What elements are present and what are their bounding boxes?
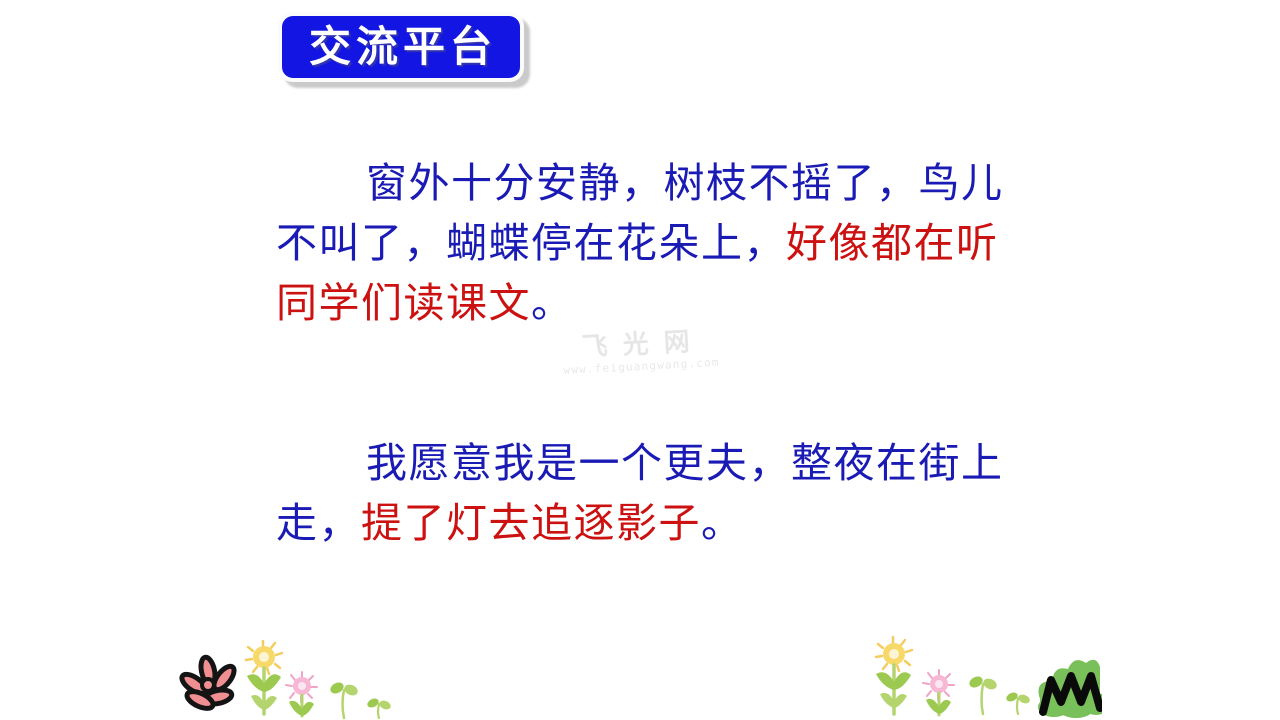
pink-small-flower-icon bbox=[286, 672, 317, 716]
slide-canvas: 交流平台 窗外十分安静，树枝不摇了，鸟儿不叫了，蝴蝶停在花朵上，好像都在听同学们… bbox=[0, 0, 1280, 720]
pink-outlined-flower-icon bbox=[179, 656, 238, 712]
grass-blob-icon bbox=[1038, 660, 1102, 718]
title-banner-label: 交流平台 bbox=[305, 26, 497, 68]
passage-one: 窗外十分安静，树枝不摇了，鸟儿不叫了，蝴蝶停在花朵上，好像都在听同学们读课文。 bbox=[276, 153, 1016, 333]
title-banner-fill: 交流平台 bbox=[282, 16, 520, 78]
passage-two-segment-emphasis: 提了灯去追逐影子 bbox=[361, 499, 701, 547]
watermark-url: www.feiguangwang.com bbox=[563, 356, 714, 378]
small-sprout-icon bbox=[366, 697, 392, 718]
pink-small-flower-icon bbox=[923, 670, 954, 715]
passage-two: 我愿意我是一个更夫，整夜在街上走，提了灯去追逐影子。 bbox=[276, 433, 1016, 553]
passage-two-segment-period: 。 bbox=[701, 499, 744, 547]
sprout-icon bbox=[967, 674, 998, 714]
passage-one-segment-period: 。 bbox=[531, 279, 574, 327]
sprout-icon bbox=[328, 680, 359, 718]
watermark: 飞 光 网 www.feiguangwang.com bbox=[562, 326, 715, 394]
flower-cluster-right-icon bbox=[862, 636, 1102, 720]
yellow-flower-icon bbox=[246, 640, 282, 714]
title-banner: 交流平台 bbox=[278, 12, 524, 82]
flower-cluster-left-icon bbox=[172, 640, 402, 720]
yellow-flower-icon bbox=[876, 637, 912, 714]
small-sprout-icon bbox=[1005, 691, 1031, 714]
